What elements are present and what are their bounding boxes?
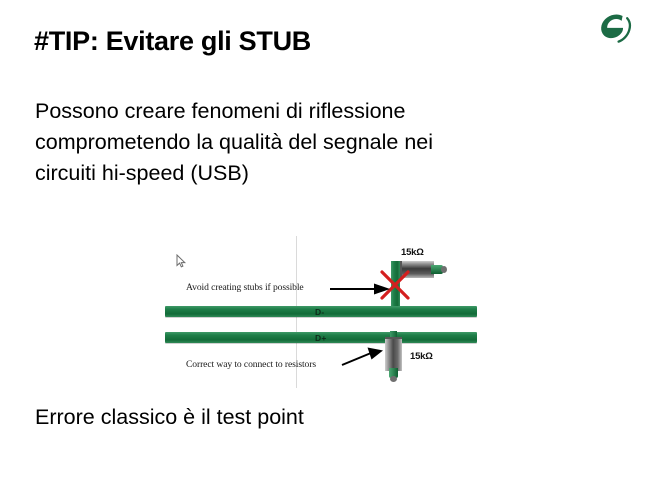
arrow-to-stub-icon	[330, 282, 392, 300]
caption-correct-way: Correct way to connect to resistors	[186, 359, 316, 370]
arrow-to-resistor-icon	[341, 347, 385, 372]
resistor-horizontal-tip	[441, 266, 447, 273]
closing-line: Errore classico è il test point	[35, 405, 304, 430]
trace-d-minus-label: D-	[315, 307, 324, 317]
stub-diagram-figure: 15kΩ Avoid creating stubs if possible	[165, 232, 495, 392]
resistor-top-value-label: 15kΩ	[401, 247, 424, 258]
mouse-pointer-icon	[176, 254, 187, 273]
trace-d-plus-label: D+	[315, 333, 327, 343]
slide-canvas: #TIP: Evitare gli STUB Possono creare fe…	[0, 0, 650, 488]
body-line-1: Possono creare fenomeni di riflessione	[35, 96, 555, 127]
resistor-vertical-body	[385, 337, 402, 371]
page-title: #TIP: Evitare gli STUB	[34, 27, 311, 57]
body-line-2: comprometendo la qualità del segnale nei	[35, 127, 555, 158]
e-logo-icon	[598, 12, 632, 46]
resistor-vertical-tip	[390, 376, 397, 382]
resistor-vertical	[385, 331, 402, 381]
body-line-3: circuiti hi-speed (USB)	[35, 158, 555, 189]
caption-avoid-stubs: Avoid creating stubs if possible	[186, 282, 304, 293]
resistor-bottom-value-label: 15kΩ	[410, 351, 433, 362]
body-paragraph: Possono creare fenomeni di riflessione c…	[35, 96, 555, 190]
